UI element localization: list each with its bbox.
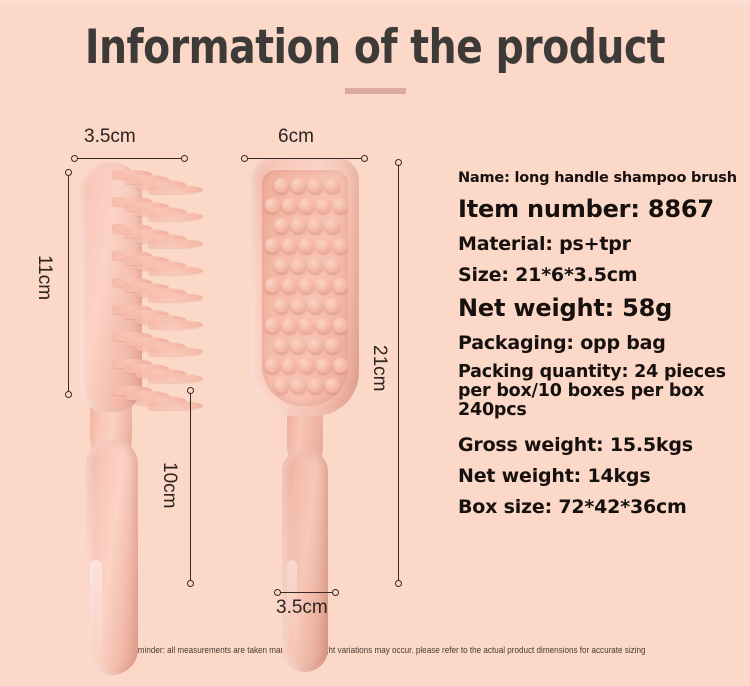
nub (299, 358, 314, 373)
nub (291, 218, 306, 233)
dim-line-left-handle-height (190, 390, 191, 583)
nub (316, 278, 331, 293)
nub (308, 258, 323, 273)
spec-net-weight: Net weight: 58g (458, 295, 743, 323)
nub (274, 178, 289, 193)
nub (265, 278, 280, 293)
right-brush-handle (282, 450, 328, 672)
nub (333, 238, 348, 253)
left-brush-handle (86, 440, 138, 675)
nub (333, 358, 348, 373)
bristle (148, 185, 203, 194)
footer-disclaimer: Gentle reminder: all measurements are ta… (38, 645, 713, 655)
nub (333, 278, 348, 293)
nub (299, 198, 314, 213)
dim-dot (187, 387, 194, 394)
bristle (148, 401, 203, 410)
dim-line-right-total-height (398, 162, 399, 583)
dim-dot (187, 580, 194, 587)
dim-label-left-head-height: 11cm (33, 255, 55, 300)
nub (325, 338, 340, 353)
dim-label-left-handle-height: 10cm (158, 462, 180, 508)
spec-material: Material: ps+tpr (458, 233, 743, 255)
nub (291, 258, 306, 273)
spec-packaging: Packaging: opp bag (458, 332, 743, 354)
nub (308, 298, 323, 313)
nub (274, 338, 289, 353)
dim-label-left-width: 3.5cm (84, 126, 136, 148)
nub (325, 218, 340, 233)
dim-line-left-head-height (68, 172, 69, 394)
spec-gross-weight: Gross weight: 15.5kgs (458, 434, 743, 456)
dim-dot (71, 155, 78, 162)
dim-dot (65, 391, 72, 398)
nub (333, 198, 348, 213)
nub (274, 258, 289, 273)
spec-size: Size: 21*6*3.5cm (458, 264, 743, 286)
nub (265, 238, 280, 253)
nub (308, 178, 323, 193)
dim-dot (361, 155, 368, 162)
page-title: Information of the product (26, 20, 724, 75)
dim-label-right-width: 6cm (278, 126, 314, 148)
dim-line-right-depth (277, 592, 335, 593)
nub (265, 358, 280, 373)
bristle (148, 266, 203, 275)
nub (282, 358, 297, 373)
nub (299, 278, 314, 293)
product-spec-list: Name: long handle shampoo brushItem numb… (458, 170, 743, 527)
nub (316, 318, 331, 333)
nub (291, 298, 306, 313)
dim-dot (274, 589, 281, 596)
nub (291, 378, 306, 393)
dim-dot (395, 159, 402, 166)
bristle (148, 212, 203, 221)
title-divider (345, 88, 406, 94)
bristle (148, 239, 203, 248)
nub (282, 278, 297, 293)
nub (265, 198, 280, 213)
spec-net-weight-box: Net weight: 14kgs (458, 465, 743, 487)
nub (282, 238, 297, 253)
bristle (148, 347, 203, 356)
nub (316, 238, 331, 253)
dim-label-right-depth: 3.5cm (276, 597, 328, 619)
dim-line-right-width (244, 158, 364, 159)
spec-name: Name: long handle shampoo brush (458, 170, 743, 187)
nub (299, 238, 314, 253)
nub (308, 338, 323, 353)
dim-dot (65, 169, 72, 176)
right-brush-nub-pad (262, 170, 348, 406)
nub (325, 378, 340, 393)
spec-packing-quantity: Packing quantity: 24 pieces per box/10 b… (458, 363, 743, 421)
nub (274, 298, 289, 313)
nub (274, 378, 289, 393)
dim-dot (241, 155, 248, 162)
nub (274, 218, 289, 233)
nub (316, 198, 331, 213)
nub (325, 178, 340, 193)
nub (282, 198, 297, 213)
dim-dot (181, 155, 188, 162)
bristle (148, 374, 203, 383)
nub (325, 298, 340, 313)
spec-box-size: Box size: 72*42*36cm (458, 496, 743, 518)
product-info-infographic: Information of the product 3.5cm (0, 0, 750, 686)
bristle (148, 293, 203, 302)
nub (291, 178, 306, 193)
spec-item-number: Item number: 8867 (458, 196, 743, 224)
nub (325, 258, 340, 273)
dim-dot (332, 589, 339, 596)
dim-line-left-width (74, 158, 184, 159)
dim-dot (395, 580, 402, 587)
nub (333, 318, 348, 333)
nub (291, 338, 306, 353)
bristle (148, 320, 203, 329)
nub (308, 218, 323, 233)
top-edge-strip (0, 0, 750, 5)
nub (265, 318, 280, 333)
nub (282, 318, 297, 333)
nub (308, 378, 323, 393)
nub (299, 318, 314, 333)
dim-label-right-total-height: 21cm (368, 345, 390, 391)
nub (316, 358, 331, 373)
